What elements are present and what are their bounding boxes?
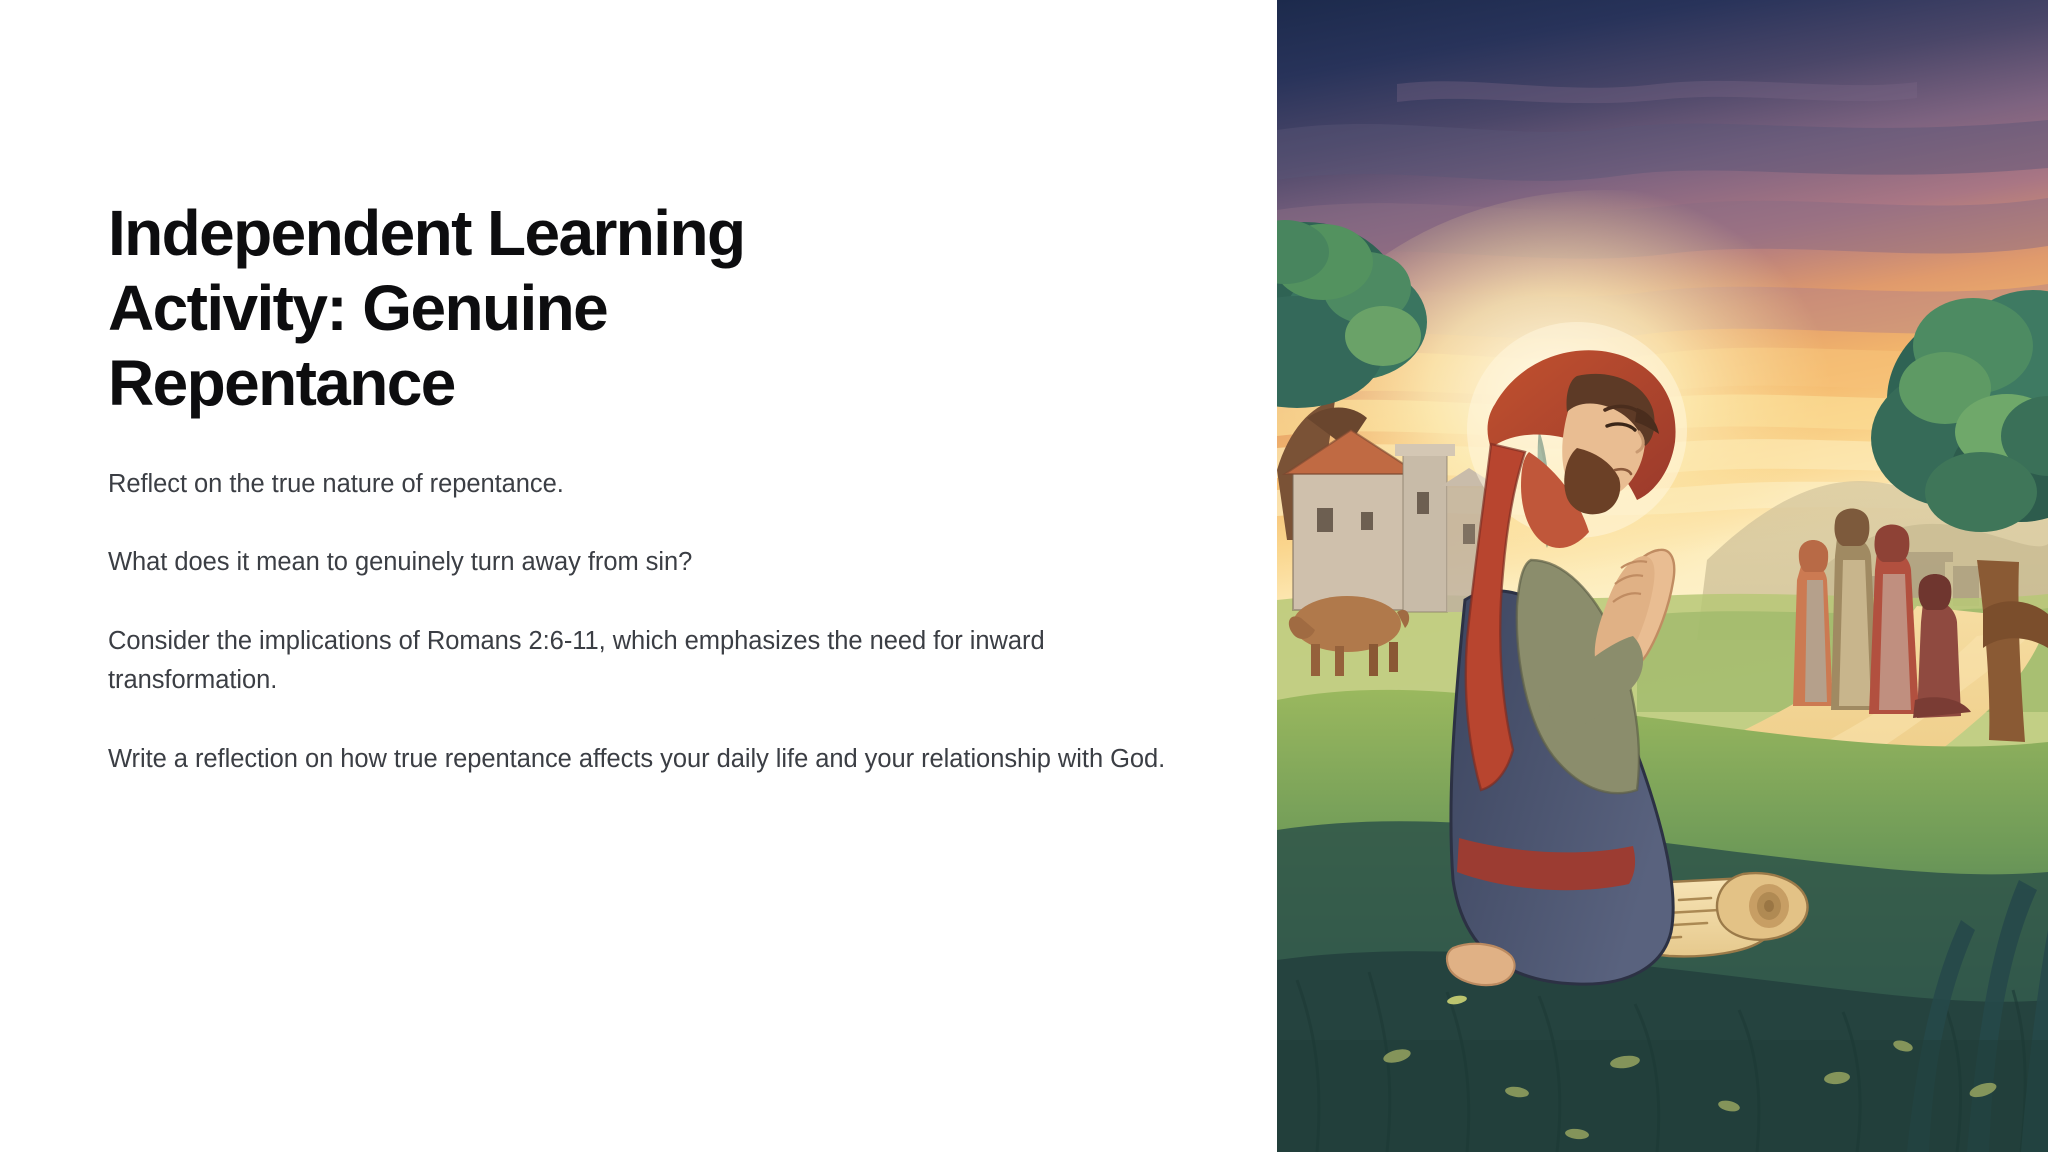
slide-root: Independent Learning Activity: Genuine R… [0,0,2048,1152]
illustration-panel: Sunset landscape illustration of a robed… [1277,0,2048,1152]
page-title: Independent Learning Activity: Genuine R… [108,0,938,421]
body-text-block: Reflect on the true nature of repentance… [108,465,1183,779]
body-paragraph-1: Reflect on the true nature of repentance… [108,465,1183,504]
sunset-prayer-illustration [1277,0,2048,1152]
body-paragraph-4: Write a reflection on how true repentanc… [108,740,1183,779]
body-paragraph-3: Consider the implications of Romans 2:6-… [108,622,1183,700]
body-paragraph-2: What does it mean to genuinely turn away… [108,543,1183,582]
text-panel: Independent Learning Activity: Genuine R… [0,0,1277,1152]
